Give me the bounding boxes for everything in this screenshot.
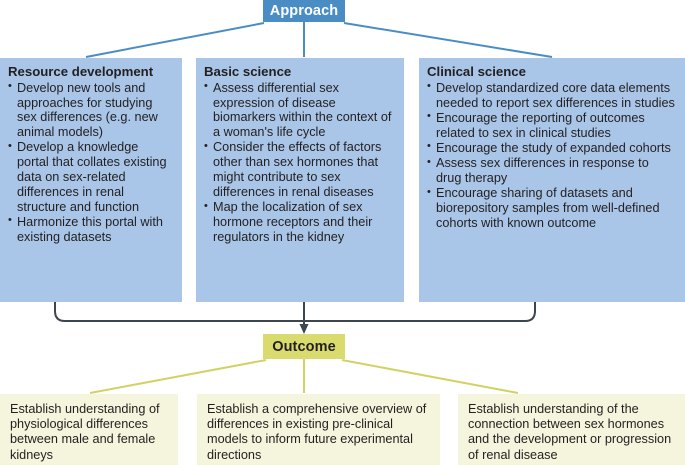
approach-header-label: Approach	[270, 3, 338, 19]
column-bullet-list: Develop standardized core data elements …	[427, 81, 676, 231]
outcome-box-text: Establish understanding of physiological…	[10, 402, 160, 462]
column-title: Clinical science	[427, 65, 676, 80]
approach-column-resource-development: Resource development Develop new tools a…	[0, 58, 182, 302]
bullet-item: Encourage the reporting of outcomes rela…	[427, 111, 676, 141]
bullet-item: Develop standardized core data elements …	[427, 81, 676, 111]
approach-header-chip: Approach	[263, 0, 345, 22]
bullet-item: Assess sex differences in response to dr…	[427, 156, 676, 186]
outcome-box-text: Establish a comprehensive overview of di…	[207, 402, 426, 462]
bullet-item: Develop a knowledge portal that collates…	[8, 140, 173, 214]
approach-line-right	[344, 23, 552, 57]
bullet-item: Assess differential sex expression of di…	[204, 81, 395, 140]
column-bullet-list: Assess differential sex expression of di…	[204, 81, 395, 245]
bullet-item: Encourage sharing of datasets and biorep…	[427, 186, 676, 230]
bullet-item: Develop new tools and approaches for stu…	[8, 81, 173, 140]
outcome-bracket-path	[55, 302, 535, 321]
column-bullet-list: Develop new tools and approaches for stu…	[8, 81, 173, 245]
outcome-header-label: Outcome	[272, 339, 336, 355]
outcome-line-left	[90, 360, 266, 393]
approach-connectors	[86, 22, 552, 57]
approach-column-clinical-science: Clinical science Develop standardized co…	[419, 58, 685, 302]
outcome-bracket	[55, 302, 535, 327]
outcome-arrow-head	[300, 324, 309, 334]
column-title: Resource development	[8, 65, 173, 80]
outcome-box-sex-hormones-renal-disease: Establish understanding of the connectio…	[458, 394, 685, 465]
approach-line-left	[86, 23, 264, 57]
bullet-item: Consider the effects of factors other th…	[204, 140, 395, 199]
bullet-item: Encourage the study of expanded cohorts	[427, 141, 676, 156]
bullet-item: Harmonize this portal with existing data…	[8, 215, 173, 245]
approach-outcome-flow-diagram: Approach Resource development Develop ne…	[0, 0, 685, 465]
column-title: Basic science	[204, 65, 395, 80]
outcome-box-physiological-differences: Establish understanding of physiological…	[0, 394, 178, 465]
outcome-header-chip: Outcome	[263, 334, 345, 359]
outcome-line-right	[342, 360, 518, 393]
outcome-connectors	[90, 359, 518, 393]
bullet-item: Map the localization of sex hormone rece…	[204, 200, 395, 244]
approach-column-basic-science: Basic science Assess differential sex ex…	[196, 58, 404, 302]
outcome-box-preclinical-models: Establish a comprehensive overview of di…	[197, 394, 440, 465]
outcome-box-text: Establish understanding of the connectio…	[468, 402, 671, 462]
